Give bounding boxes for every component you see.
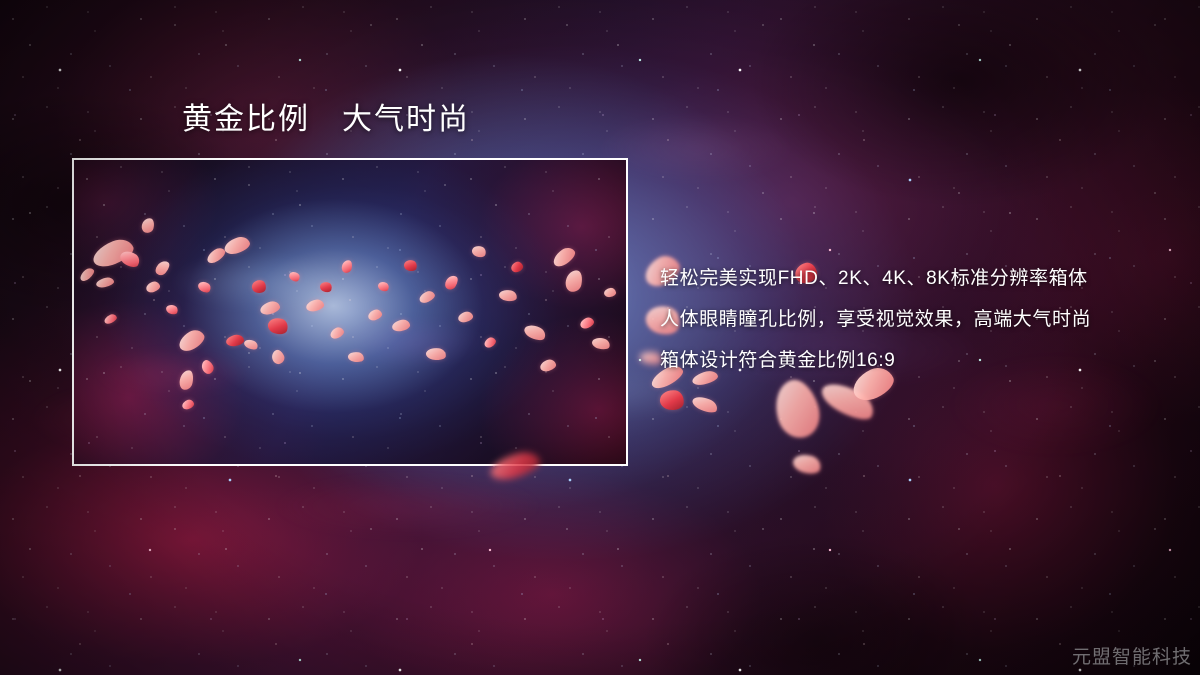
body-line-1: 轻松完美实现FHD、2K、4K、8K标准分辨率箱体 [660,258,1180,299]
panel-starfield-medium [74,160,626,464]
watermark-text: 元盟智能科技 [1072,642,1192,669]
image-panel-content [74,160,626,464]
slide-canvas: 黄金比例 大气时尚 轻松完美实现FHD、2K、4K、8K标准分辨率箱体 人体眼睛… [0,0,1200,675]
page-title: 黄金比例 大气时尚 [182,103,470,137]
image-panel-frame [72,158,628,466]
body-line-2: 人体眼睛瞳孔比例，享受视觉效果，高端大气时尚 [660,299,1180,340]
body-text-block: 轻松完美实现FHD、2K、4K、8K标准分辨率箱体 人体眼睛瞳孔比例，享受视觉效… [660,258,1180,381]
body-line-3: 箱体设计符合黄金比例16:9 [660,340,1180,381]
